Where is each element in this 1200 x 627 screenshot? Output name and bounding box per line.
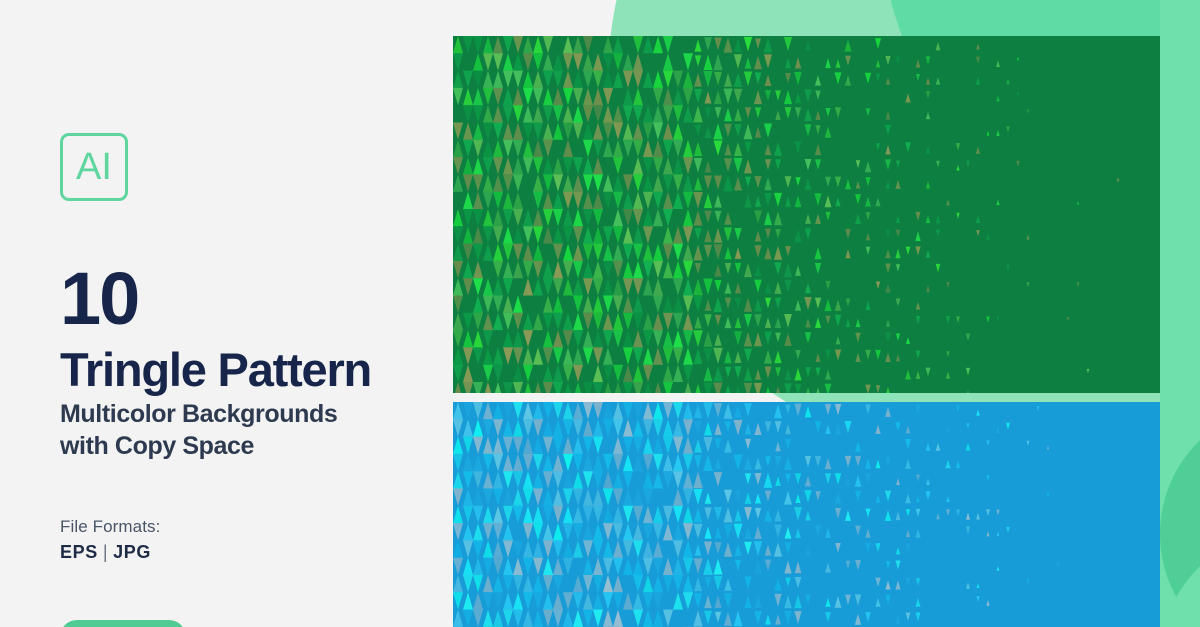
- page-subtitle-line-2: with Copy Space: [60, 430, 337, 462]
- page-subtitle: Multicolor Backgrounds with Copy Space: [60, 398, 337, 462]
- file-formats-value: EPS|JPG: [60, 542, 151, 563]
- cta-pill[interactable]: [60, 620, 186, 627]
- page-subtitle-line-1: Multicolor Backgrounds: [60, 398, 337, 430]
- blue-triangle-pattern-svg: [453, 402, 1160, 627]
- blob-right-band: [1160, 0, 1200, 627]
- green-triangle-pattern-preview[interactable]: [453, 36, 1160, 393]
- ai-file-badge-label: AI: [76, 148, 112, 186]
- info-column: AI 10 Tringle Pattern Multicolor Backgro…: [60, 0, 450, 627]
- pack-count: 10: [60, 262, 138, 336]
- file-format-eps: EPS: [60, 542, 98, 562]
- green-triangle-pattern-svg: [453, 36, 1160, 393]
- blob-bottom-dark: [1160, 404, 1200, 627]
- blob-bottom-light: [1160, 530, 1200, 627]
- file-format-jpg: JPG: [113, 542, 151, 562]
- file-format-separator: |: [98, 542, 113, 562]
- file-formats-label: File Formats:: [60, 517, 160, 537]
- ai-file-badge: AI: [60, 133, 128, 201]
- page-title: Tringle Pattern: [60, 346, 371, 393]
- blue-triangle-pattern-preview[interactable]: [453, 402, 1160, 627]
- promo-canvas: AI 10 Tringle Pattern Multicolor Backgro…: [0, 0, 1200, 627]
